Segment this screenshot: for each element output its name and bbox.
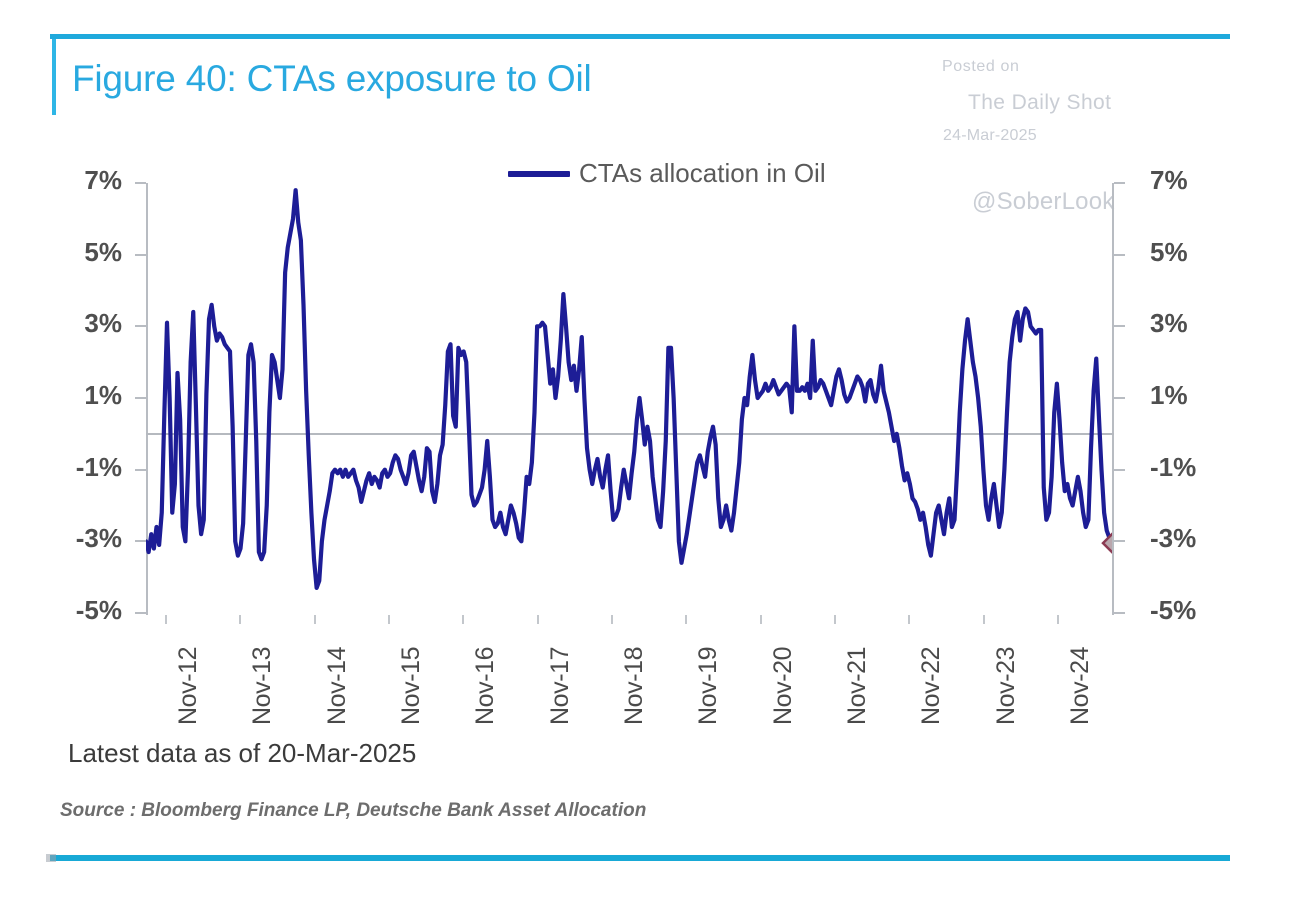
y-axis-tick-r bbox=[1114, 612, 1125, 614]
y-axis-tick-r bbox=[1114, 397, 1125, 399]
x-axis-label: Nov-20 bbox=[769, 647, 798, 725]
x-axis-label: Nov-22 bbox=[917, 647, 946, 725]
y-axis-label-r: 5% bbox=[1150, 237, 1188, 268]
y-axis-label-r: -3% bbox=[1150, 523, 1196, 554]
y-axis-label-r: 3% bbox=[1150, 308, 1188, 339]
x-axis-label: Nov-15 bbox=[397, 647, 426, 725]
y-axis-tick-r bbox=[1114, 325, 1125, 327]
x-axis-label: Nov-24 bbox=[1066, 647, 1095, 725]
x-axis-label: Nov-18 bbox=[620, 647, 649, 725]
y-axis-tick-l bbox=[135, 254, 146, 256]
y-axis-tick-l bbox=[135, 397, 146, 399]
x-axis-label: Nov-17 bbox=[546, 647, 575, 725]
x-axis-label: Nov-23 bbox=[992, 647, 1021, 725]
x-axis-label: Nov-12 bbox=[174, 647, 203, 725]
page-title: Figure 40: CTAs exposure to Oil bbox=[72, 58, 592, 100]
y-axis-label-l: 7% bbox=[84, 165, 122, 196]
x-axis-tick bbox=[983, 615, 985, 624]
x-axis-tick bbox=[685, 615, 687, 624]
x-axis-label: Nov-16 bbox=[471, 647, 500, 725]
title-accent-bar bbox=[52, 39, 56, 115]
y-axis-label-l: -3% bbox=[76, 523, 122, 554]
x-axis-tick bbox=[314, 615, 316, 624]
y-axis-tick-r bbox=[1114, 469, 1125, 471]
latest-data-note: Latest data as of 20-Mar-2025 bbox=[68, 738, 416, 769]
x-axis-label: Nov-14 bbox=[323, 647, 352, 725]
y-axis-tick-l bbox=[135, 540, 146, 542]
y-axis-tick-l bbox=[135, 325, 146, 327]
top-divider-rule bbox=[50, 34, 1230, 39]
y-axis-label-l: -5% bbox=[76, 595, 122, 626]
x-axis-tick bbox=[908, 615, 910, 624]
y-axis-label-r: -5% bbox=[1150, 595, 1196, 626]
watermark-date: 24-Mar-2025 bbox=[943, 127, 1037, 145]
watermark-publication: The Daily Shot bbox=[968, 91, 1111, 115]
series-canvas bbox=[146, 183, 1112, 613]
y-axis-tick-l bbox=[135, 182, 146, 184]
watermark-posted-on: Posted on bbox=[942, 58, 1019, 76]
y-axis-label-r: 7% bbox=[1150, 165, 1188, 196]
x-axis-label: Nov-19 bbox=[694, 647, 723, 725]
x-axis-tick bbox=[165, 615, 167, 624]
bottom-divider-rule bbox=[50, 855, 1230, 861]
x-axis-label: Nov-13 bbox=[248, 647, 277, 725]
y-axis-label-l: 5% bbox=[84, 237, 122, 268]
series-line-ctas-allocation-in-oil bbox=[146, 190, 1112, 588]
y-axis-tick-r bbox=[1114, 540, 1125, 542]
legend-line-swatch bbox=[508, 171, 570, 177]
bottom-rule-cap bbox=[46, 854, 56, 862]
y-axis-label-l: -1% bbox=[76, 452, 122, 483]
x-axis-tick bbox=[1057, 615, 1059, 624]
x-axis-tick bbox=[611, 615, 613, 624]
y-axis-right bbox=[1112, 183, 1114, 615]
plot-area bbox=[146, 183, 1112, 613]
y-axis-label-r: 1% bbox=[1150, 380, 1188, 411]
x-axis-tick bbox=[239, 615, 241, 624]
x-axis-tick bbox=[462, 615, 464, 624]
x-axis-tick bbox=[388, 615, 390, 624]
x-axis-tick bbox=[537, 615, 539, 624]
y-axis-label-r: -1% bbox=[1150, 452, 1196, 483]
y-axis-tick-l bbox=[135, 469, 146, 471]
x-axis-label: Nov-21 bbox=[843, 647, 872, 725]
y-axis-tick-r bbox=[1114, 182, 1125, 184]
y-axis-label-l: 3% bbox=[84, 308, 122, 339]
x-axis-tick bbox=[834, 615, 836, 624]
y-axis-tick-l bbox=[135, 612, 146, 614]
y-axis-label-l: 1% bbox=[84, 380, 122, 411]
source-note: Source : Bloomberg Finance LP, Deutsche … bbox=[60, 800, 646, 822]
y-axis-tick-r bbox=[1114, 254, 1125, 256]
x-axis-tick bbox=[760, 615, 762, 624]
